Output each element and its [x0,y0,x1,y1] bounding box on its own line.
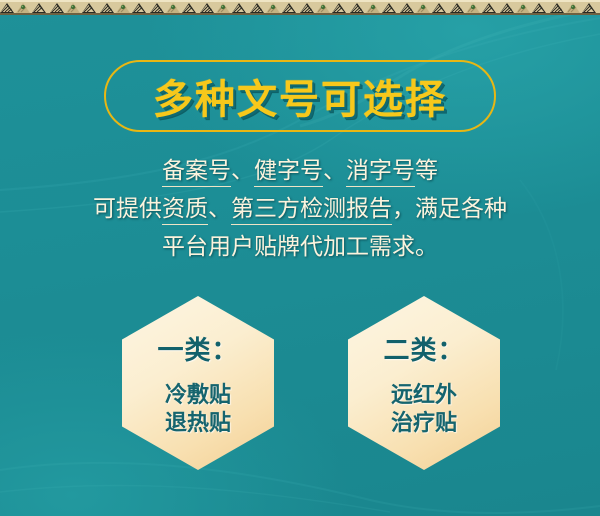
line2-head: 可提供 [93,196,162,222]
category-1-item-1: 冷敷贴 [165,381,231,409]
category-2-item-1: 远红外 [391,381,457,409]
top-decorative-border [0,0,600,15]
doc-type-jianzi: 健字号 [254,158,323,187]
qualification-term: 资质 [162,196,208,225]
description-line-2: 可提供资质、第三方检测报告，满足各种 [0,190,600,228]
category-1-item-2: 退热贴 [165,409,231,437]
description-block: 备案号、健字号、消字号等 可提供资质、第三方检测报告，满足各种 平台用户贴牌代加… [0,152,600,266]
doc-type-beian: 备案号 [162,158,231,187]
description-line-1: 备案号、健字号、消字号等 [0,152,600,190]
promotional-poster: 多种文号可选择 备案号、健字号、消字号等 可提供资质、第三方检测报告，满足各种 … [0,0,600,516]
third-party-report-term: 第三方检测报告 [231,196,392,225]
category-1-title: 一类： [157,330,238,367]
separator-3: 、 [208,196,231,222]
separator-2: 、 [323,158,346,184]
line1-tail: 等 [415,158,438,184]
description-line-3: 平台用户贴牌代加工需求。 [0,228,600,266]
doc-type-xiaozi: 消字号 [346,158,415,187]
border-pattern-icon [0,0,600,14]
line2-tail: ，满足各种 [392,196,507,222]
category-2-title: 二类： [383,330,464,367]
category-2-item-2: 治疗贴 [391,409,457,437]
separator-1: 、 [231,158,254,184]
page-title: 多种文号可选择 [104,60,496,132]
